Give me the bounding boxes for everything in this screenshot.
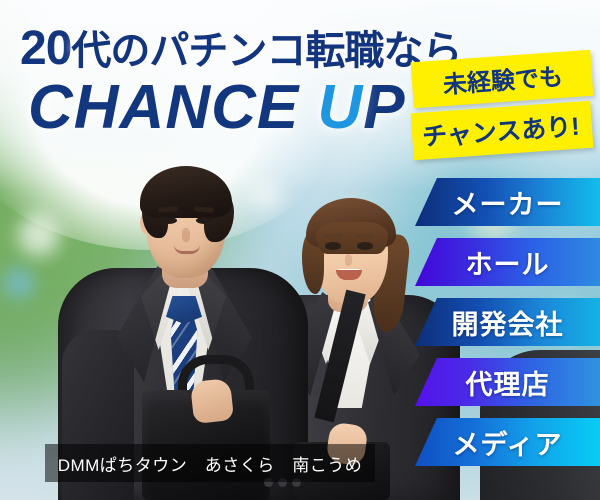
- category-label-agency: 代理店: [466, 363, 550, 402]
- headline-rest: 代のパチンコ転職なら: [71, 29, 461, 73]
- promo-banner: 20代のパチンコ転職なら CHANCE UP 未経験でも チャンスあり! メーカ…: [0, 0, 600, 500]
- category-button-development-company[interactable]: 開発会社: [415, 298, 600, 346]
- female-eye-left: [325, 242, 341, 250]
- category-label-hall: ホール: [466, 243, 550, 282]
- female-nose: [345, 254, 352, 266]
- male-hair: [140, 166, 232, 218]
- category-label-media: メディア: [452, 423, 562, 462]
- credit-bar: DMMぱちタウン あさくら 南こうめ: [45, 444, 375, 482]
- headline-text: 20代のパチンコ転職なら: [20, 18, 461, 76]
- highlight-badges: 未経験でも チャンスあり!: [412, 56, 592, 159]
- logo-chance-word: CHANCE: [28, 73, 299, 142]
- category-label-development-company: 開発会社: [452, 303, 564, 342]
- logo-chance-up: CHANCE UP: [28, 72, 406, 143]
- category-button-maker[interactable]: メーカー: [415, 178, 600, 226]
- female-eye-right: [357, 242, 373, 250]
- male-eye-left: [160, 217, 177, 224]
- badge-no-experience: 未経験でも: [411, 50, 593, 108]
- male-eye-right: [196, 217, 213, 224]
- category-button-media[interactable]: メディア: [415, 418, 600, 466]
- headline-number: 20: [20, 22, 71, 75]
- logo-u-letter: U: [317, 72, 363, 143]
- badge-chance-available: チャンスあり!: [411, 101, 593, 160]
- category-label-maker: メーカー: [452, 183, 564, 222]
- male-hand: [190, 378, 234, 424]
- male-nose: [182, 228, 190, 242]
- category-list: メーカー ホール 開発会社 代理店 メディア: [415, 178, 600, 478]
- category-button-hall[interactable]: ホール: [415, 238, 600, 286]
- category-button-agency[interactable]: 代理店: [415, 358, 600, 406]
- logo-p-letter: P: [363, 73, 405, 142]
- credit-text: DMMぱちタウン あさくら 南こうめ: [58, 451, 363, 476]
